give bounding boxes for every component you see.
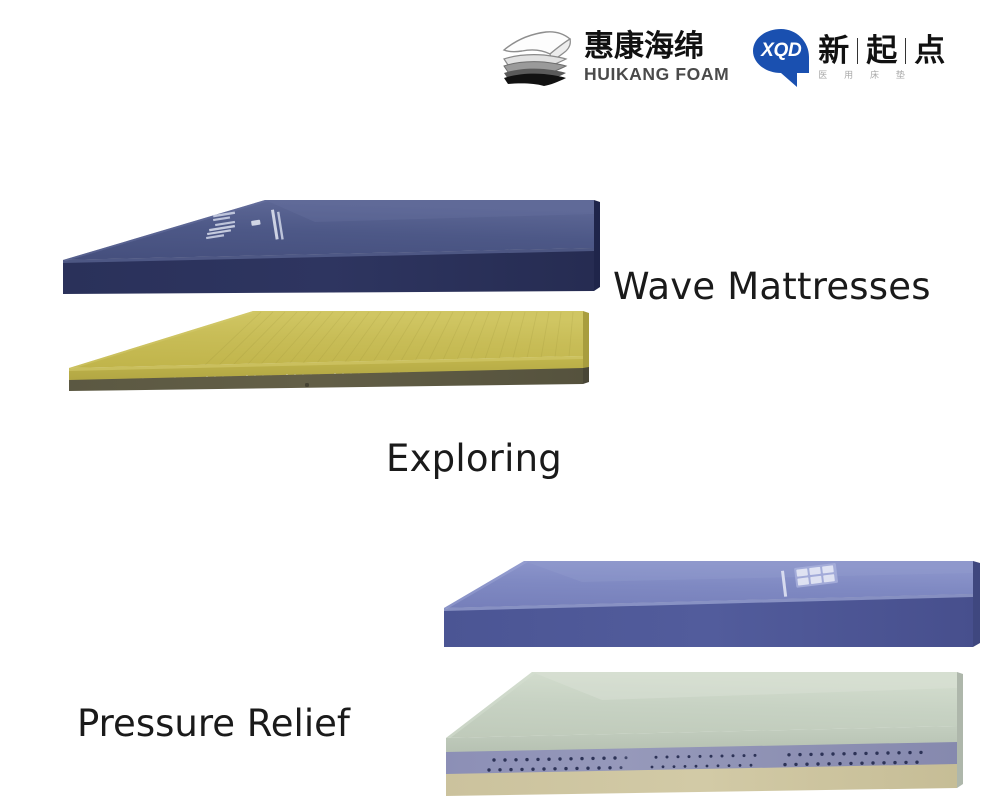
- huikang-english-name: HUIKANG FOAM: [584, 66, 729, 84]
- stacked-foam-sheets-icon: [500, 30, 576, 86]
- sage-green-perforated-foam-core: [446, 672, 963, 796]
- caption-pressure-line-1: Pressure Relief: [60, 700, 350, 749]
- yellow-wave-foam-core: [69, 311, 589, 391]
- periwinkle-mattress-cover: [444, 561, 980, 647]
- xqd-subtitle: 医 用 床 垫: [818, 72, 945, 81]
- caption-wave-mattresses: Wave Mattresses: [613, 265, 931, 308]
- caption-exploring: Exploring: [386, 437, 562, 480]
- divider: [857, 38, 858, 64]
- brand-logo-bar: 惠康海绵 HUIKANG FOAM XQD 新 起 点: [500, 22, 980, 94]
- xqd-badge-text: XQD: [753, 29, 809, 73]
- xqd-chinese-name: 新 起 点: [818, 36, 945, 67]
- xqd-char-1: 新: [818, 36, 849, 67]
- wave-mattress-product-image: [55, 188, 607, 400]
- infographic-canvas: 惠康海绵 HUIKANG FOAM XQD 新 起 点: [0, 0, 1000, 800]
- xqd-badge-icon: XQD: [753, 29, 809, 87]
- caption-pressure-relief-mattresses: Pressure Relief Mattresses: [60, 602, 350, 800]
- navy-mattress-cover: [63, 200, 600, 294]
- xqd-logo: XQD 新 起 点 医 用 床 垫: [753, 29, 945, 87]
- xqd-char-3: 点: [914, 36, 945, 67]
- huikang-foam-logo: 惠康海绵 HUIKANG FOAM: [500, 30, 729, 86]
- xqd-wordmark: 新 起 点 医 用 床 垫: [818, 36, 945, 81]
- xqd-char-2: 起: [866, 36, 897, 67]
- pressure-relief-mattress-product-image: [432, 548, 988, 796]
- divider: [905, 38, 906, 64]
- huikang-wordmark: 惠康海绵 HUIKANG FOAM: [584, 32, 729, 84]
- huikang-chinese-name: 惠康海绵: [584, 32, 729, 62]
